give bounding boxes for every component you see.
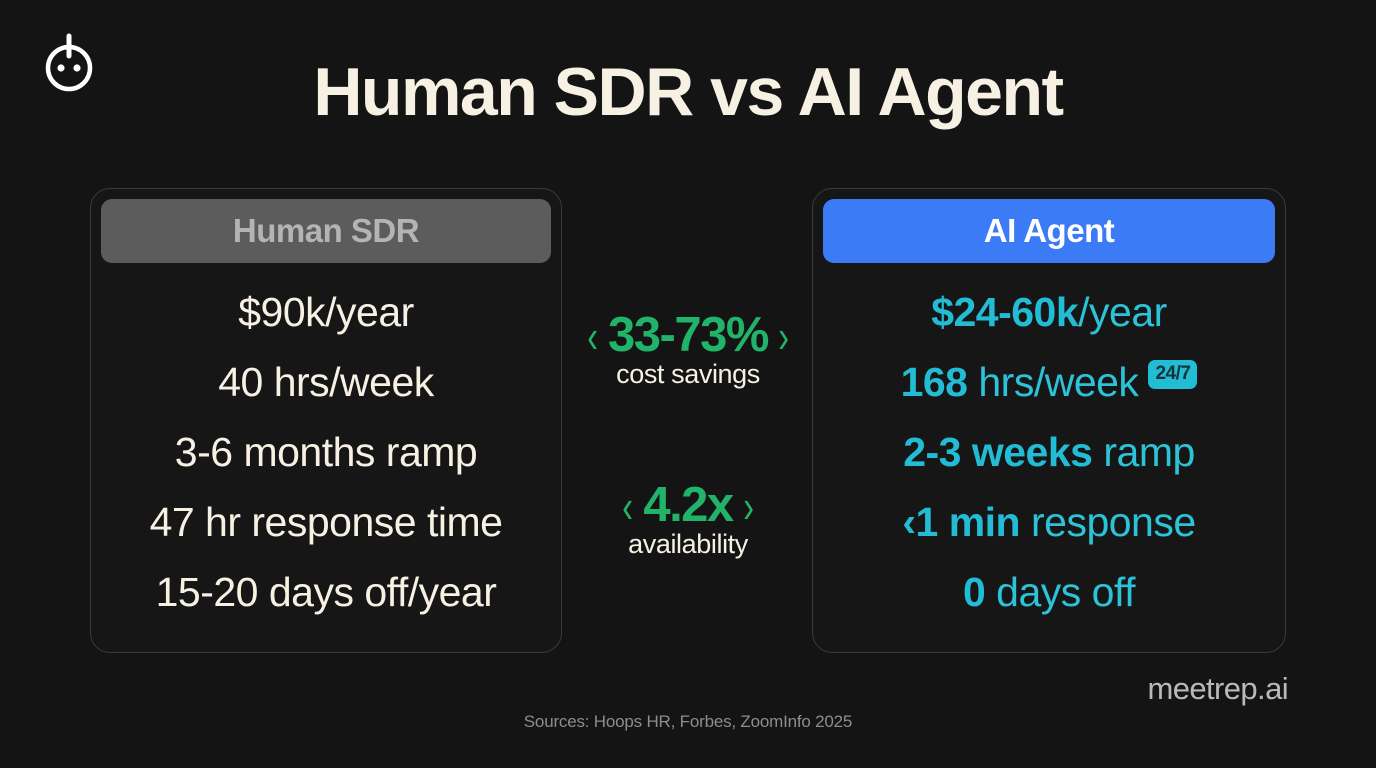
- list-item: 2-3 weeks ramp: [823, 417, 1275, 487]
- ai-row-response: ‹1 min response: [902, 499, 1195, 546]
- ai-row-cost-value: $24-60k: [931, 289, 1078, 335]
- human-row-cost: $90k/year: [238, 289, 414, 336]
- list-item: ‹1 min response: [823, 487, 1275, 557]
- ai-row-response-unit: response: [1020, 499, 1196, 545]
- ai-row-daysoff-value: 0: [963, 569, 985, 615]
- ai-row-hours-value: 168: [901, 359, 968, 405]
- ai-row-daysoff: 0 days off: [963, 569, 1135, 616]
- human-sdr-rows: $90k/year 40 hrs/week 3-6 months ramp 47…: [101, 263, 551, 627]
- chevron-right-icon: ›: [778, 313, 789, 359]
- ai-agent-rows: $24-60k/year 168 hrs/week24/7 2-3 weeks …: [823, 263, 1275, 627]
- ai-row-cost: $24-60k/year: [931, 289, 1167, 336]
- brand-wordmark: meetrep.ai: [1148, 671, 1288, 707]
- ai-agent-header: AI Agent: [823, 199, 1275, 263]
- stat-cost-savings-label: cost savings: [563, 359, 813, 390]
- list-item: $90k/year: [101, 277, 551, 347]
- human-row-daysoff: 15-20 days off/year: [156, 569, 497, 616]
- ai-row-cost-unit: /year: [1078, 289, 1167, 335]
- stat-cost-savings-value: 33-73%: [608, 310, 768, 361]
- list-item: 3-6 months ramp: [101, 417, 551, 487]
- stat-cost-savings: ‹ 33-73% › cost savings: [563, 310, 813, 390]
- ai-row-ramp-value: 2-3 weeks: [903, 429, 1092, 475]
- ai-agent-card: AI Agent $24-60k/year 168 hrs/week24/7 2…: [812, 188, 1286, 653]
- chevron-left-icon: ‹: [587, 313, 598, 359]
- stat-cost-savings-row: ‹ 33-73% ›: [563, 310, 813, 361]
- human-sdr-card: Human SDR $90k/year 40 hrs/week 3-6 mont…: [90, 188, 562, 653]
- stat-availability-value: 4.2x: [643, 480, 732, 531]
- list-item: $24-60k/year: [823, 277, 1275, 347]
- ai-row-daysoff-unit: days off: [985, 569, 1135, 615]
- human-sdr-header-label: Human SDR: [233, 212, 419, 250]
- ai-row-hours-unit: hrs/week: [967, 359, 1138, 405]
- list-item: 168 hrs/week24/7: [823, 347, 1275, 417]
- ai-row-response-value: ‹1 min: [902, 499, 1020, 545]
- human-row-hours: 40 hrs/week: [218, 359, 434, 406]
- ai-agent-header-label: AI Agent: [984, 212, 1114, 250]
- ai-row-ramp: 2-3 weeks ramp: [903, 429, 1195, 476]
- stat-availability-label: availability: [563, 529, 813, 560]
- stat-availability-row: ‹ 4.2x ›: [563, 480, 813, 531]
- list-item: 15-20 days off/year: [101, 557, 551, 627]
- list-item: 47 hr response time: [101, 487, 551, 557]
- stat-availability: ‹ 4.2x › availability: [563, 480, 813, 560]
- human-sdr-header: Human SDR: [101, 199, 551, 263]
- ai-row-ramp-unit: ramp: [1092, 429, 1194, 475]
- chevron-right-icon: ›: [743, 483, 754, 529]
- human-row-response: 47 hr response time: [150, 499, 503, 546]
- list-item: 0 days off: [823, 557, 1275, 627]
- comparison-section: Human SDR $90k/year 40 hrs/week 3-6 mont…: [0, 188, 1376, 658]
- sources-note: Sources: Hoops HR, Forbes, ZoomInfo 2025: [0, 712, 1376, 732]
- page-title: Human SDR vs AI Agent: [0, 58, 1376, 126]
- human-row-ramp: 3-6 months ramp: [175, 429, 477, 476]
- badge-24-7: 24/7: [1148, 360, 1197, 389]
- list-item: 40 hrs/week: [101, 347, 551, 417]
- ai-row-hours: 168 hrs/week24/7: [901, 359, 1198, 406]
- chevron-left-icon: ‹: [622, 483, 633, 529]
